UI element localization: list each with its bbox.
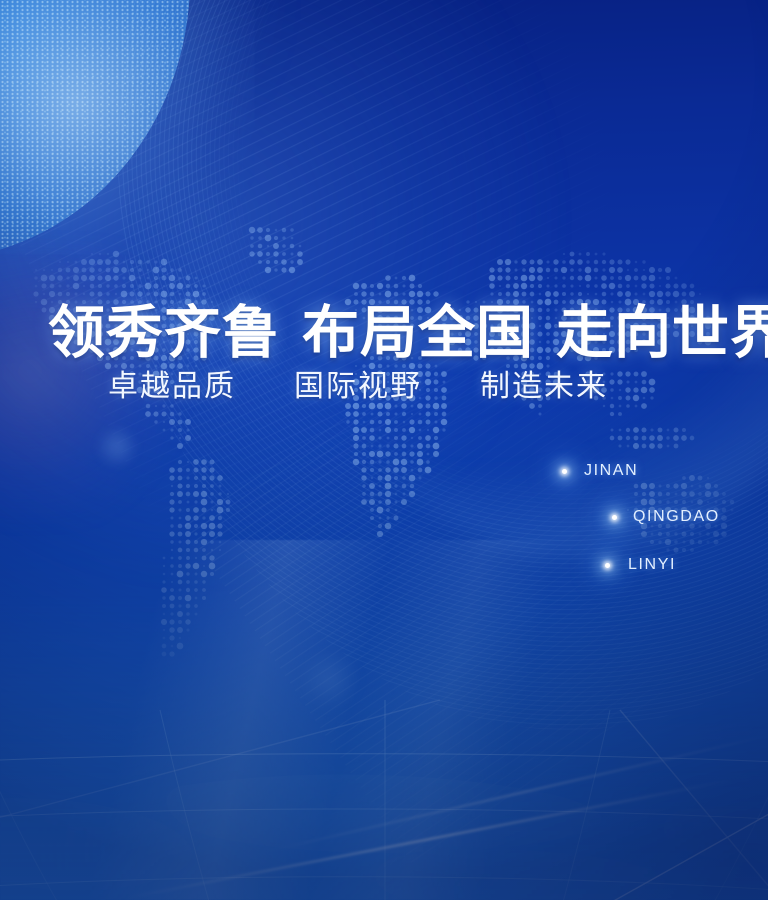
city-marker-qingdao: QINGDAO: [612, 508, 720, 526]
city-label-jinan: JINAN: [584, 462, 638, 480]
page-subtitle: 卓越品质国际视野制造未来: [108, 370, 608, 403]
city-marker-linyi: LINYI: [605, 556, 676, 574]
hero-banner: 领秀齐鲁布局全国走向世界 卓越品质国际视野制造未来 JINAN QINGDAO …: [0, 0, 768, 900]
headline-segment-3: 走向世界: [556, 302, 768, 365]
subtitle-segment-2: 国际视野: [294, 370, 422, 403]
city-label-qingdao: QINGDAO: [633, 508, 720, 526]
page-title: 领秀齐鲁布局全国走向世界: [48, 304, 768, 364]
city-label-linyi: LINYI: [628, 556, 676, 574]
city-marker-jinan: JINAN: [562, 462, 638, 480]
city-dot-marker-icon: [605, 563, 610, 568]
subtitle-segment-1: 卓越品质: [108, 370, 236, 403]
headline-segment-1: 领秀齐鲁: [48, 302, 280, 365]
city-dot-marker-icon: [562, 469, 567, 474]
headline-segment-2: 布局全国: [302, 302, 534, 365]
subtitle-segment-3: 制造未来: [480, 370, 608, 403]
city-dot-marker-icon: [612, 515, 617, 520]
